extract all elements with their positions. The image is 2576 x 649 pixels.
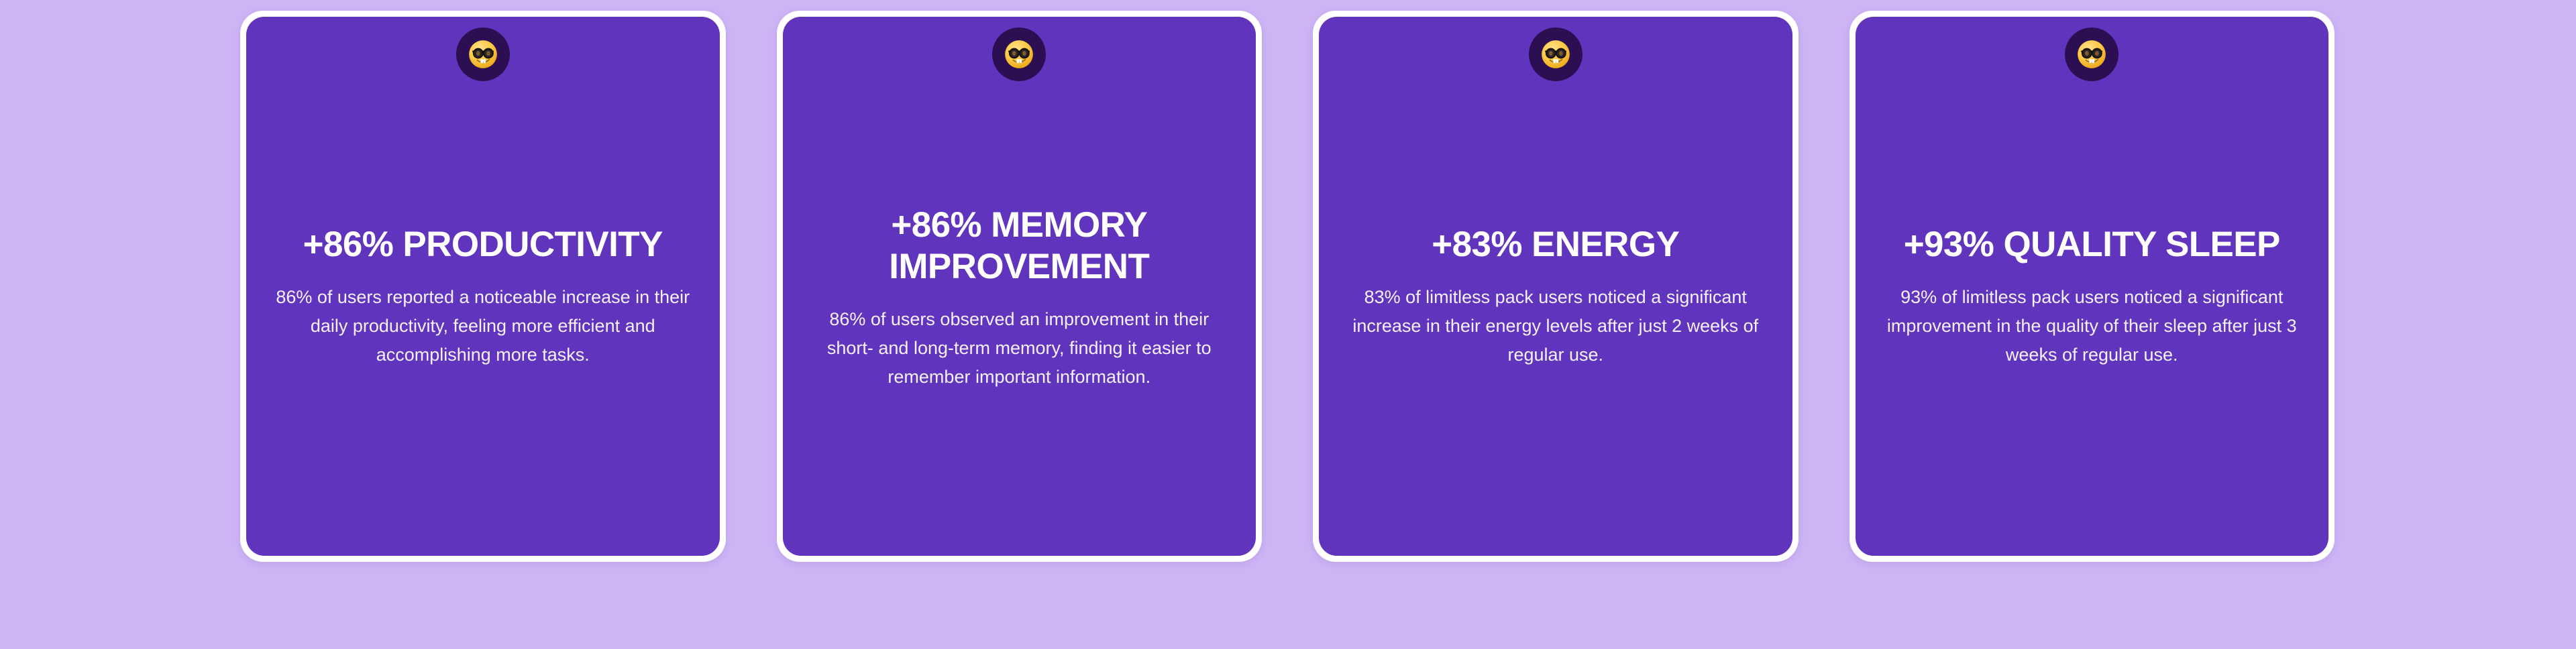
stat-card-title: +86% MEMORY IMPROVEMENT — [808, 204, 1231, 288]
nerd-face-emoji-icon — [992, 27, 1046, 81]
stat-card-energy[interactable]: +83% ENERGY 83% of limitless pack users … — [1313, 11, 1799, 562]
stat-card-description: 86% of users observed an improvement in … — [808, 305, 1231, 392]
stat-card-description: 86% of users reported a noticeable incre… — [272, 283, 694, 369]
stat-card-memory-improvement[interactable]: +86% MEMORY IMPROVEMENT 86% of users obs… — [777, 11, 1263, 562]
nerd-face-emoji-icon — [2065, 27, 2118, 81]
stat-card-description: 83% of limitless pack users noticed a si… — [1344, 283, 1767, 369]
nerd-face-emoji-icon — [1529, 27, 1582, 81]
stat-card-description: 93% of limitless pack users noticed a si… — [1881, 283, 2304, 369]
stat-card-surface: +83% ENERGY 83% of limitless pack users … — [1319, 17, 1792, 556]
benefit-stats-row: +86% PRODUCTIVITY 86% of users reported … — [240, 11, 2334, 562]
stat-card-surface: +93% QUALITY SLEEP 93% of limitless pack… — [1856, 17, 2329, 556]
stat-card-productivity[interactable]: +86% PRODUCTIVITY 86% of users reported … — [240, 11, 726, 562]
nerd-face-emoji-icon — [456, 27, 510, 81]
stat-card-surface: +86% PRODUCTIVITY 86% of users reported … — [246, 17, 720, 556]
stat-card-surface: +86% MEMORY IMPROVEMENT 86% of users obs… — [783, 17, 1256, 556]
stat-card-title: +93% QUALITY SLEEP — [1881, 224, 2304, 265]
stat-card-title: +86% PRODUCTIVITY — [272, 224, 694, 265]
stat-card-title: +83% ENERGY — [1344, 224, 1767, 265]
stat-card-quality-sleep[interactable]: +93% QUALITY SLEEP 93% of limitless pack… — [1849, 11, 2335, 562]
